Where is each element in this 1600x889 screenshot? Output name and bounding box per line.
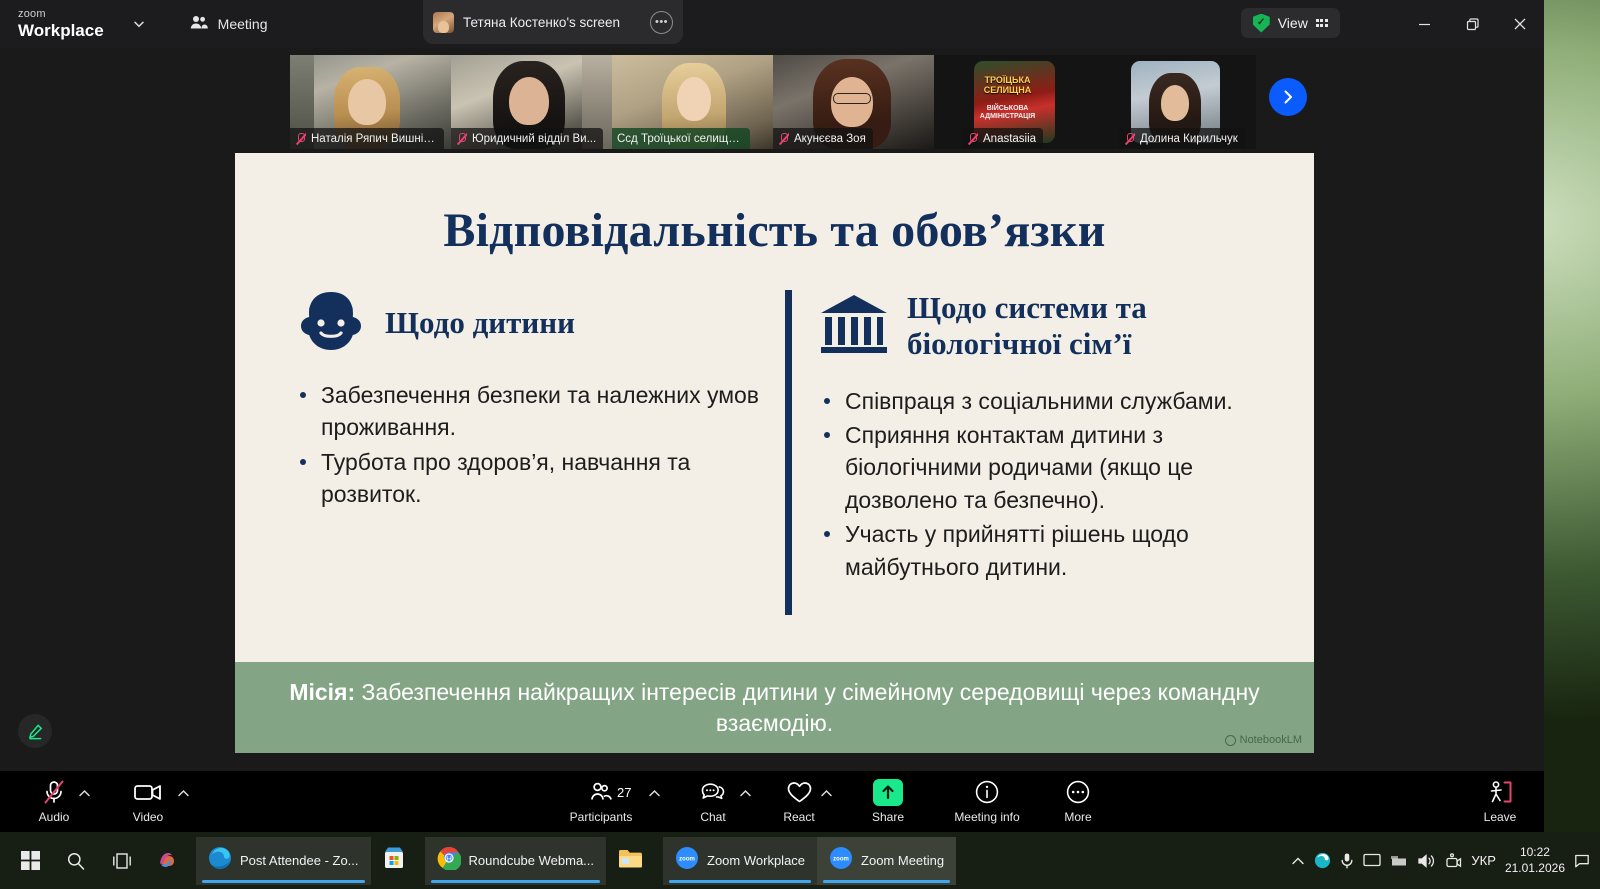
column-heading-right: Щодо системи та біологічної сім’ї bbox=[819, 290, 1263, 363]
video-options-chevron-icon[interactable] bbox=[177, 789, 190, 801]
more-button[interactable]: More bbox=[1042, 777, 1114, 824]
view-label: View bbox=[1278, 15, 1308, 31]
participant-nametag: Anastasiia bbox=[962, 128, 1043, 149]
shared-screen-label: Тетяна Костенко's screen bbox=[463, 15, 620, 30]
taskbar-apps: Post Attendee - Zo... bbox=[196, 837, 956, 885]
bullet-list-right: Співпраця з соціальними службами. Сприян… bbox=[819, 385, 1263, 584]
slide-title: Відповідальність та обов’язки bbox=[235, 203, 1314, 258]
participants-options-chevron-icon[interactable] bbox=[648, 789, 661, 801]
windows-taskbar: Post Attendee - Zo... bbox=[0, 832, 1600, 889]
column-heading-left-text: Щодо дитини bbox=[385, 305, 575, 341]
notebooklm-label: NotebookLM bbox=[1240, 734, 1302, 746]
child-face-icon bbox=[295, 290, 367, 357]
zoom-icon: zoom bbox=[675, 846, 699, 875]
participant-nametag: Ссд Троїцької селищної ... bbox=[612, 128, 750, 149]
institution-bank-icon bbox=[819, 293, 889, 360]
svg-text:H: H bbox=[446, 855, 452, 864]
shared-screen-tab[interactable]: Тетяна Костенко's screen ••• bbox=[423, 0, 683, 44]
meeting-info-label: Meeting info bbox=[954, 810, 1019, 824]
column-heading-right-text: Щодо системи та біологічної сім’ї bbox=[907, 290, 1263, 363]
video-tile[interactable]: Юридичний відділ Ви... bbox=[451, 55, 612, 149]
taskbar-item-label: Zoom Meeting bbox=[861, 853, 944, 868]
participant-nametag: Юридичний відділ Ви... bbox=[451, 128, 603, 149]
notebooklm-watermark: NotebookLM bbox=[1225, 734, 1302, 746]
chevron-up-icon[interactable] bbox=[1291, 856, 1305, 866]
window-controls bbox=[1400, 0, 1544, 48]
screen: zoom Workplace Meeting Тетяна Костен bbox=[0, 0, 1600, 889]
zoom-logo: zoom Workplace bbox=[18, 9, 104, 39]
tab-meeting[interactable]: Meeting bbox=[180, 9, 278, 39]
mission-text: Забезпечення найкращих інтересів дитини … bbox=[362, 679, 1260, 736]
participant-name: Долина Кирильчук bbox=[1140, 133, 1238, 145]
display-tray-icon[interactable] bbox=[1363, 853, 1381, 868]
titlebar: zoom Workplace Meeting Тетяна Костен bbox=[0, 0, 1544, 48]
svg-text:zoom: zoom bbox=[679, 857, 695, 863]
column-heading-left: Щодо дитини bbox=[295, 290, 763, 357]
participant-name: Ссд Троїцької селищної ... bbox=[617, 133, 743, 145]
task-view-icon[interactable] bbox=[100, 837, 144, 885]
more-options-icon[interactable]: ••• bbox=[650, 11, 673, 34]
camera-icon bbox=[133, 777, 163, 807]
copilot-icon[interactable] bbox=[146, 837, 190, 885]
meeting-toolbar: Audio Video bbox=[0, 771, 1544, 832]
participant-name: Юридичний відділ Ви... bbox=[472, 133, 596, 145]
filmstrip-tiles: Наталія Ряпич Вишнів... Юридичний відділ… bbox=[290, 55, 1256, 149]
participant-nametag: Долина Кирильчук bbox=[1119, 128, 1245, 149]
taskbar-item-store[interactable] bbox=[371, 837, 425, 885]
meeting-info-button[interactable]: Meeting info bbox=[951, 777, 1023, 824]
meet-now-icon[interactable] bbox=[1445, 853, 1462, 869]
participants-count: 27 bbox=[617, 785, 631, 800]
bullet-item: Сприяння контактам дитини з біологічними… bbox=[819, 419, 1263, 516]
participants-icon bbox=[589, 777, 614, 807]
mic-off-icon bbox=[967, 132, 978, 145]
next-participants-button[interactable] bbox=[1269, 78, 1307, 116]
avatar bbox=[433, 12, 454, 33]
brand-zoom-text: zoom bbox=[18, 9, 104, 20]
audio-label: Audio bbox=[39, 810, 70, 824]
close-icon[interactable] bbox=[1496, 0, 1544, 48]
zoom-meeting-window: zoom Workplace Meeting Тетяна Костен bbox=[0, 0, 1544, 832]
share-screen-button[interactable]: Share bbox=[852, 777, 924, 824]
participants-label: Participants bbox=[570, 810, 633, 824]
chrome-icon: H bbox=[437, 846, 461, 875]
taskbar-tray: УКР 10:22 21.01.2026 bbox=[1291, 845, 1600, 876]
chevron-down-icon[interactable] bbox=[126, 11, 152, 37]
react-label: React bbox=[783, 810, 814, 824]
bullet-list-left: Забезпечення безпеки та належних умов пр… bbox=[295, 379, 763, 511]
bullet-item: Співпраця з соціальними службами. bbox=[819, 385, 1263, 417]
mic-off-icon bbox=[778, 132, 789, 145]
svg-text:zoom: zoom bbox=[833, 857, 849, 863]
video-tile[interactable]: ТРОЇЦЬКАСЕЛИЩНА ВІЙСЬКОВААДМІНІСТРАЦІЯ A… bbox=[934, 55, 1095, 149]
more-horizontal-icon bbox=[1065, 777, 1091, 807]
video-tile[interactable]: Наталія Ряпич Вишнів... bbox=[290, 55, 451, 149]
leave-button[interactable]: Leave bbox=[1464, 777, 1536, 824]
notebooklm-icon bbox=[1225, 735, 1236, 746]
mic-off-icon bbox=[295, 132, 306, 145]
file-explorer-icon bbox=[618, 848, 643, 874]
participant-name: Акунєєва Зоя bbox=[794, 133, 866, 145]
taskbar-item-edge[interactable]: Post Attendee - Zo... bbox=[196, 837, 371, 885]
clock-time: 10:22 bbox=[1520, 845, 1550, 861]
video-button[interactable]: Video bbox=[112, 777, 184, 824]
react-options-chevron-icon[interactable] bbox=[820, 789, 833, 801]
edge-tray-icon[interactable] bbox=[1314, 852, 1331, 869]
taskbar-item-label: Zoom Workplace bbox=[707, 853, 805, 868]
participant-nametag: Наталія Ряпич Вишнів... bbox=[290, 128, 444, 149]
share-screen-icon bbox=[873, 777, 903, 807]
brand-workplace-text: Workplace bbox=[18, 22, 104, 39]
view-button[interactable]: ✓ View bbox=[1241, 8, 1340, 38]
leave-meeting-icon bbox=[1487, 777, 1513, 807]
leave-label: Leave bbox=[1484, 810, 1517, 824]
microphone-muted-icon bbox=[41, 777, 67, 807]
clock-date: 21.01.2026 bbox=[1505, 861, 1565, 877]
heart-icon bbox=[786, 777, 813, 807]
participant-nametag: Акунєєва Зоя bbox=[773, 128, 873, 149]
more-label: More bbox=[1064, 810, 1091, 824]
video-label: Video bbox=[133, 810, 163, 824]
annotate-pencil-icon[interactable] bbox=[18, 714, 52, 748]
mic-off-icon bbox=[1124, 132, 1135, 145]
info-icon bbox=[974, 777, 1000, 807]
notification-icon[interactable] bbox=[1574, 853, 1590, 869]
clock[interactable]: 10:22 21.01.2026 bbox=[1505, 845, 1565, 876]
mic-off-icon bbox=[456, 132, 467, 145]
participant-name: Anastasiia bbox=[983, 133, 1036, 145]
microsoft-store-icon bbox=[383, 846, 405, 875]
bullet-item: Участь у прийнятті рішень щодо майбутньо… bbox=[819, 518, 1263, 583]
grid-view-icon bbox=[1316, 19, 1328, 27]
share-label: Share bbox=[872, 810, 904, 824]
taskbar-item-label: Post Attendee - Zo... bbox=[240, 853, 359, 868]
video-tile[interactable]: Акунєєва Зоя bbox=[773, 55, 934, 149]
slide-column-right: Щодо системи та біологічної сім’ї Співпр… bbox=[763, 290, 1263, 585]
slide-columns: Щодо дитини Забезпечення безпеки та нале… bbox=[235, 290, 1314, 585]
bullet-item: Турбота про здоров’я, навчання та розвит… bbox=[295, 446, 763, 511]
bullet-item: Забезпечення безпеки та належних умов пр… bbox=[295, 379, 763, 444]
volume-tray-icon[interactable] bbox=[1417, 853, 1436, 869]
video-tile[interactable]: Долина Кирильчук bbox=[1095, 55, 1256, 149]
taskbar-item-explorer[interactable] bbox=[606, 837, 663, 885]
chat-icon bbox=[700, 777, 726, 807]
people-icon bbox=[190, 15, 209, 33]
language-indicator[interactable]: УКР bbox=[1471, 853, 1496, 868]
slide-column-left: Щодо дитини Забезпечення безпеки та нале… bbox=[263, 290, 763, 585]
restore-icon[interactable] bbox=[1448, 0, 1496, 48]
chat-label: Chat bbox=[700, 810, 725, 824]
search-icon[interactable] bbox=[54, 837, 98, 885]
taskbar-item-zoom-meeting[interactable]: zoom Zoom Meeting bbox=[817, 837, 956, 885]
audio-options-chevron-icon[interactable] bbox=[78, 789, 91, 801]
presentation-slide: Відповідальність та обов’язки bbox=[235, 153, 1314, 753]
tab-meeting-label: Meeting bbox=[218, 16, 268, 32]
mission-label: Місія: bbox=[289, 679, 355, 705]
chat-options-chevron-icon[interactable] bbox=[739, 789, 752, 801]
participant-filmstrip: Наталія Ряпич Вишнів... Юридичний відділ… bbox=[0, 48, 1544, 149]
start-icon[interactable] bbox=[8, 837, 52, 885]
microphone-tray-icon[interactable] bbox=[1340, 852, 1354, 869]
minimize-icon[interactable] bbox=[1400, 0, 1448, 48]
security-shield-icon: ✓ bbox=[1253, 14, 1270, 33]
network-tray-icon[interactable] bbox=[1390, 853, 1408, 868]
participant-name: Наталія Ряпич Вишнів... bbox=[311, 133, 437, 145]
taskbar-system-icons bbox=[0, 837, 190, 885]
taskbar-item-label: Roundcube Webma... bbox=[469, 853, 595, 868]
edge-icon bbox=[208, 846, 232, 875]
mission-banner: Місія: Забезпечення найкращих інтересів … bbox=[235, 662, 1314, 753]
taskbar-item-chrome[interactable]: H Roundcube Webma... bbox=[425, 837, 607, 885]
zoom-icon: zoom bbox=[829, 846, 853, 875]
video-tile-active-speaker[interactable]: Ссд Троїцької селищної ... bbox=[612, 55, 773, 149]
taskbar-item-zoom-workplace[interactable]: zoom Zoom Workplace bbox=[663, 837, 817, 885]
